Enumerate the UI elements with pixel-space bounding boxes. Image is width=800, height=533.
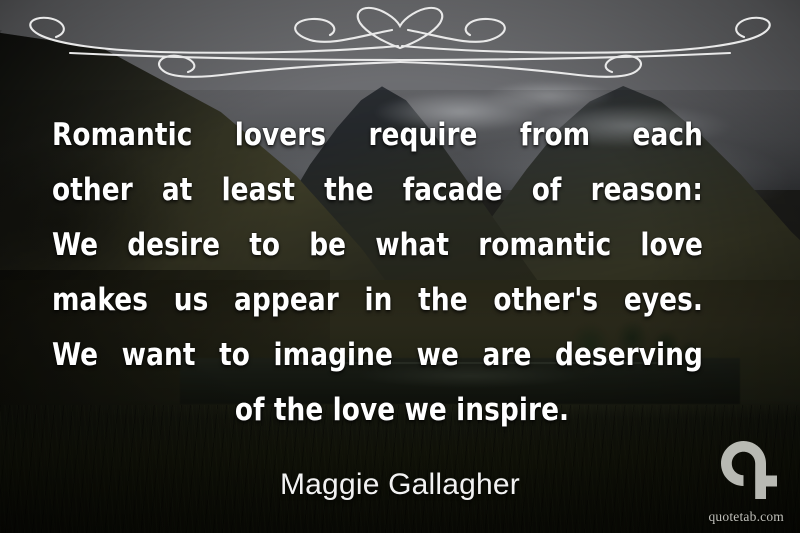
quote-author: Maggie Gallagher	[0, 466, 800, 504]
quote-word: of	[532, 163, 562, 218]
quote-word: to	[249, 218, 280, 273]
quote-line: Wewanttoimaginewearedeserving	[52, 328, 703, 383]
watermark[interactable]: quotetab.com	[690, 441, 786, 527]
quote-word: facade	[403, 163, 503, 218]
quote-word: eyes.	[624, 273, 703, 328]
quote-word: Romantic	[52, 108, 192, 163]
quote-word: other's	[493, 273, 598, 328]
quote-word: the	[418, 273, 468, 328]
quote-word: imagine	[274, 328, 393, 383]
quote-word: in	[364, 273, 392, 328]
quote-word: romantic	[478, 218, 611, 273]
quote-word: reason:	[591, 163, 703, 218]
quote-word: to	[219, 328, 250, 383]
quote-text-block: Romanticloversrequirefromeach otheratlea…	[52, 108, 752, 438]
quote-word: appear	[234, 273, 339, 328]
quote-line: Romanticloversrequirefromeach	[52, 108, 703, 163]
quote-word: deserving	[555, 328, 703, 383]
quote-line: makesusappearintheother'seyes.	[52, 273, 703, 328]
quote-word: love	[640, 218, 703, 273]
quote-image-card: Romanticloversrequirefromeach otheratlea…	[0, 0, 800, 533]
quote-word: makes	[52, 273, 148, 328]
quote-word: want	[122, 328, 196, 383]
quote-word: each	[633, 108, 703, 163]
quote-word: be	[309, 218, 346, 273]
quotetab-logo-icon	[721, 441, 777, 499]
quote-word: We	[52, 328, 98, 383]
quote-word: from	[520, 108, 590, 163]
quote-word: We	[52, 218, 98, 273]
quote-word: desire	[127, 218, 220, 273]
heart-flourish-icon	[0, 2, 800, 88]
quote-line: otheratleastthefacadeofreason:	[52, 163, 703, 218]
quote-word: the	[324, 163, 374, 218]
quote-word: us	[174, 273, 209, 328]
quote-word: least	[222, 163, 295, 218]
quote-word: lovers	[235, 108, 326, 163]
quote-word: are	[482, 328, 531, 383]
quote-line: of the love we inspire.	[77, 383, 728, 438]
quote-word: we	[417, 328, 459, 383]
quote-word: what	[375, 218, 449, 273]
watermark-site-label: quotetab.com	[708, 509, 784, 525]
quote-word: other	[52, 163, 133, 218]
quote-word: at	[162, 163, 193, 218]
quote-line: Wedesiretobewhatromanticlove	[52, 218, 703, 273]
quote-word: require	[368, 108, 477, 163]
